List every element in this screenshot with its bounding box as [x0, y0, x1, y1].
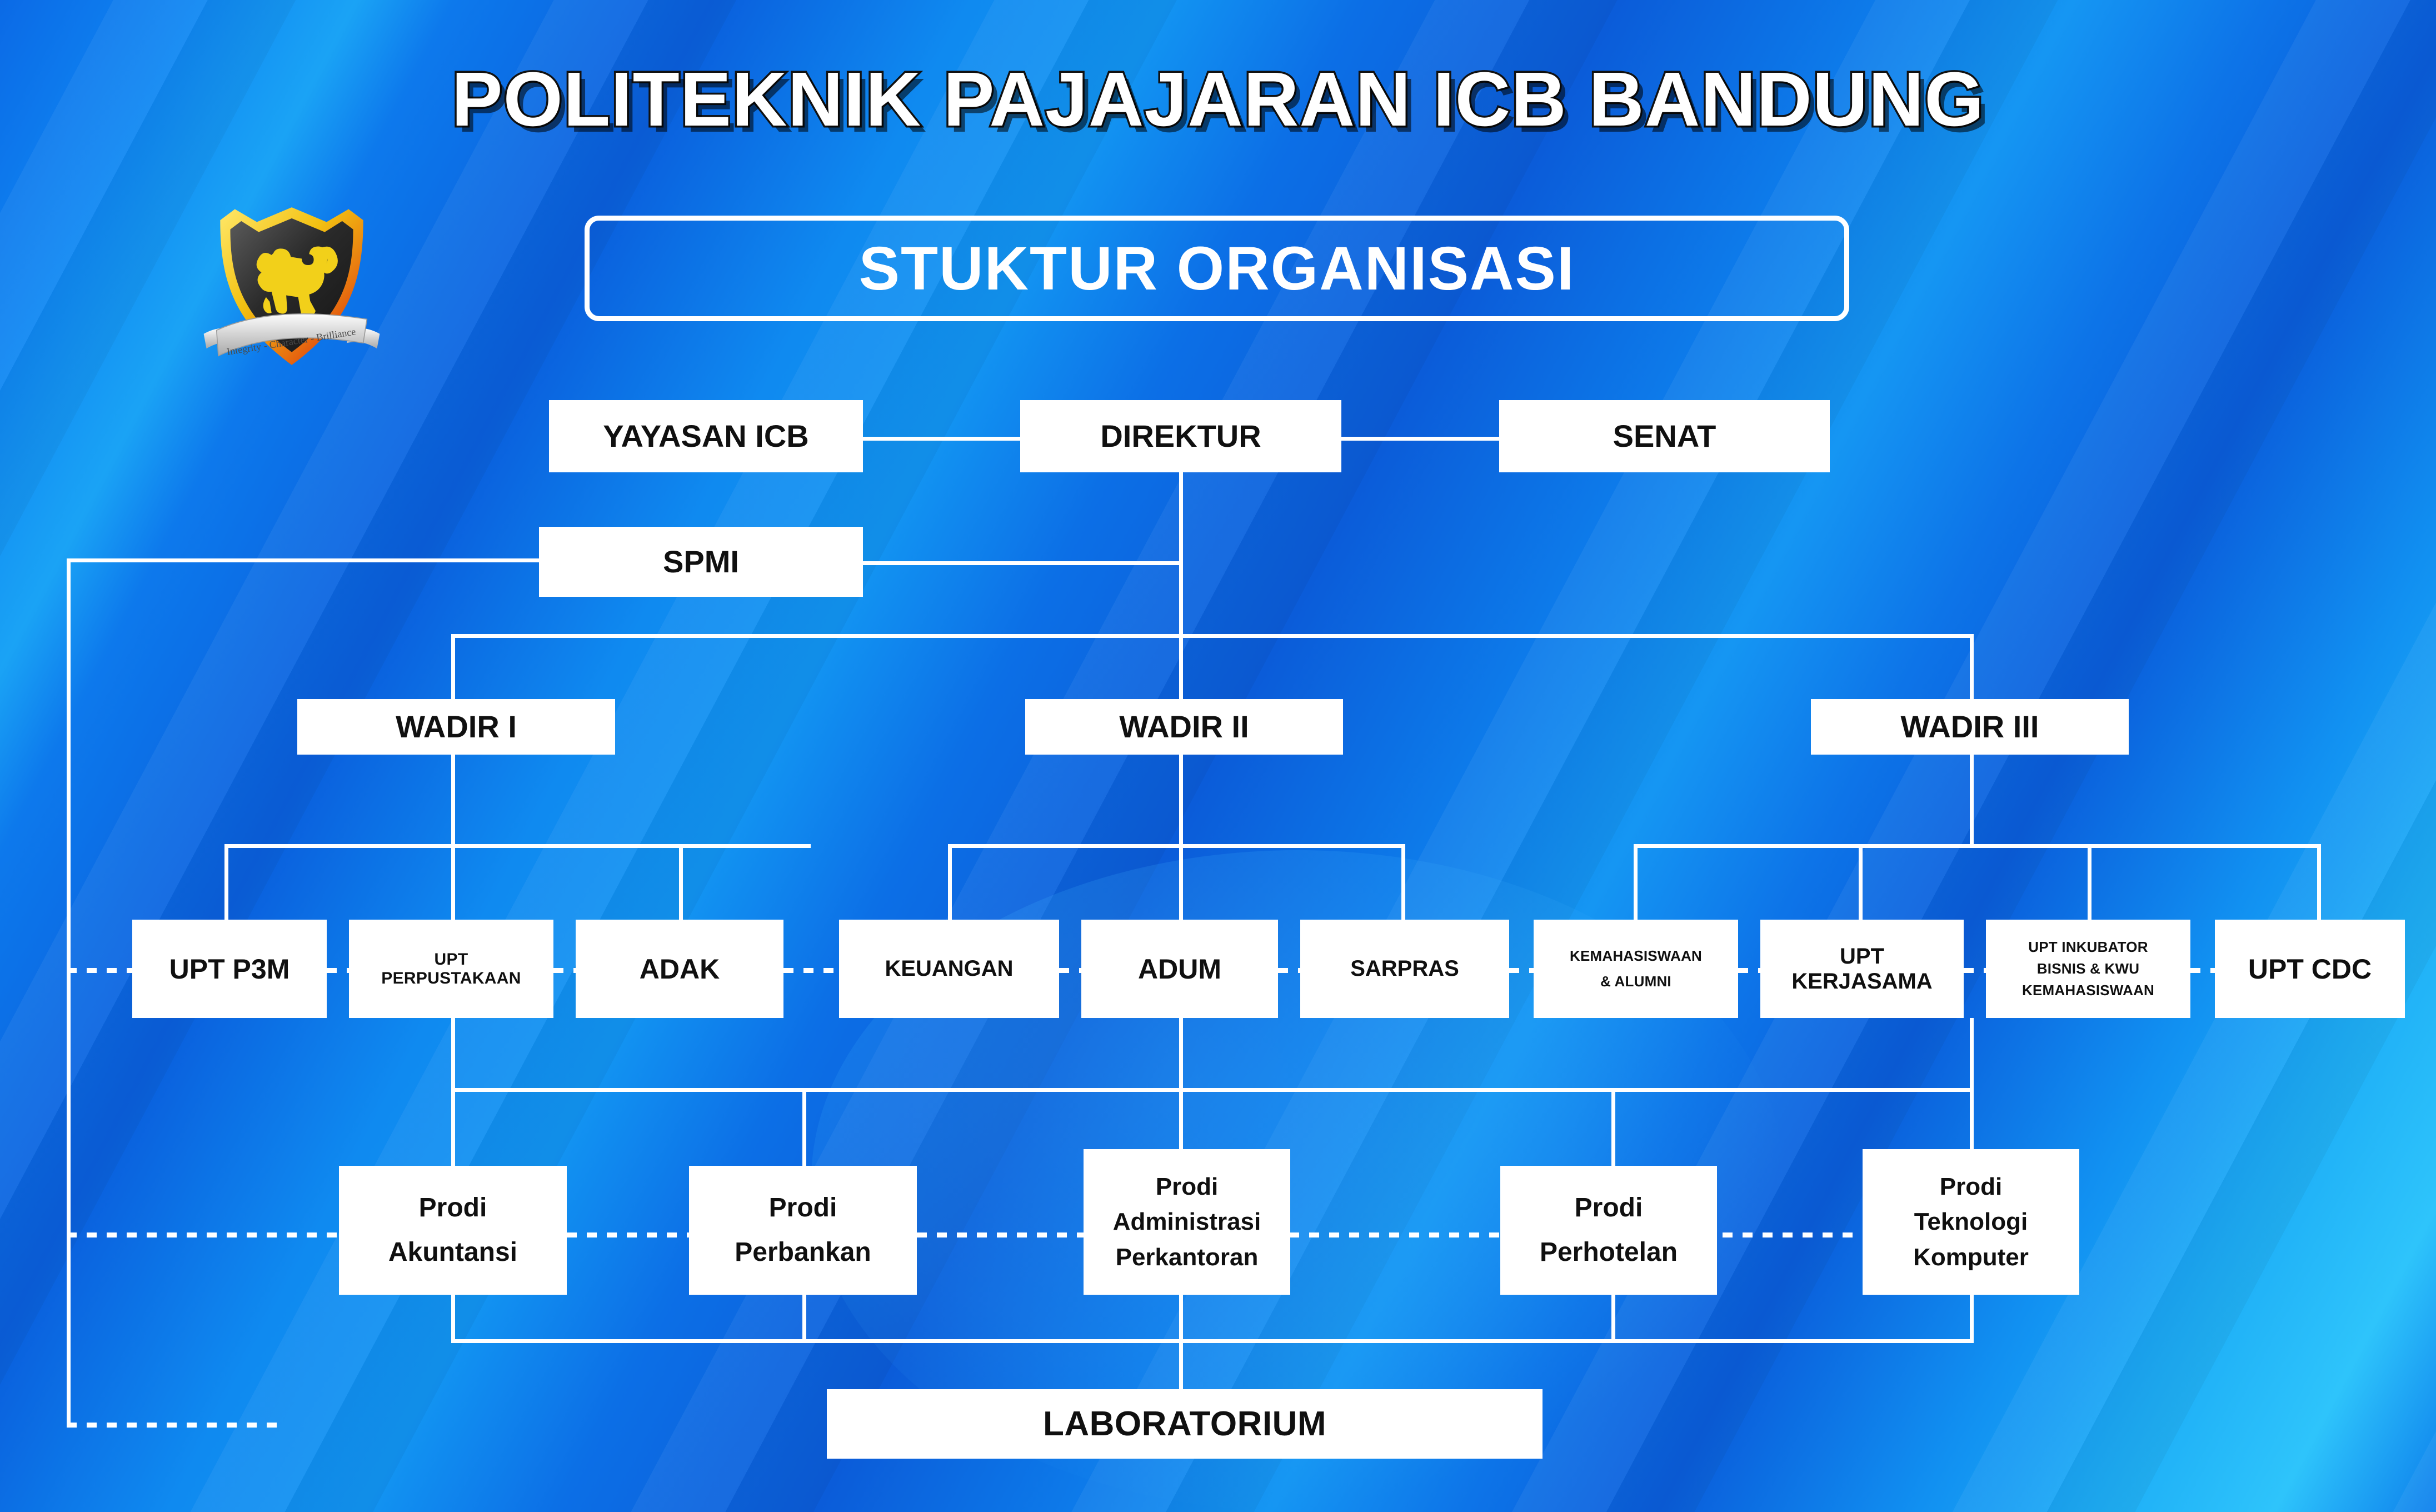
dotted-akuntansi-perbankan [567, 1232, 689, 1237]
node-prodi-perhotelan[interactable]: Prodi Perhotelan [1500, 1166, 1717, 1295]
node-label-line1: Prodi [1940, 1173, 2002, 1200]
icb-shield-lion-logo: Integrity - Character - Brilliance [200, 194, 383, 378]
node-label: ADAK [640, 954, 720, 985]
line-to-kerjasama [1859, 844, 1863, 920]
line-to-sarpras [1401, 844, 1405, 920]
node-label-line2: & ALUMNI [1600, 974, 1671, 990]
node-yayasan-icb[interactable]: YAYASAN ICB [549, 400, 863, 472]
line-direktur-trunk [1179, 470, 1183, 636]
line-to-upt-cdc [2317, 844, 2321, 920]
line-bus-to-wadir2 [1179, 634, 1183, 699]
line-to-kemahasiswaan [1634, 844, 1638, 920]
line-akuntansi-down [451, 1295, 455, 1341]
dotted-rail-to-laboratorium [67, 1423, 278, 1428]
node-label: LABORATORIUM [1043, 1405, 1326, 1443]
node-laboratorium[interactable]: LABORATORIUM [827, 1389, 1543, 1459]
line-to-keuangan [948, 844, 952, 920]
node-label-line1: Prodi [769, 1193, 837, 1223]
node-upt-kerjasama[interactable]: UPT KERJASAMA [1760, 920, 1964, 1018]
line-prodi-bus [451, 1088, 1974, 1092]
node-label: UPT P3M [169, 954, 290, 985]
dotted-perpus-adak [553, 968, 576, 973]
node-keuangan[interactable]: KEUANGAN [839, 920, 1059, 1018]
node-label: SENAT [1613, 419, 1716, 454]
page-title: POLITEKNIK PAJAJARAN ICB BANDUNG [0, 56, 2436, 144]
node-wadir-1[interactable]: WADIR I [297, 699, 615, 755]
line-wadir3-down [1970, 755, 1974, 846]
node-label: UPT CDC [2248, 954, 2372, 985]
line-bus-to-wadir3 [1970, 634, 1974, 699]
node-label-line3: Komputer [1913, 1244, 2029, 1271]
node-label-line2: BISNIS & KWU [2037, 961, 2139, 977]
node-direktur[interactable]: DIREKTUR [1020, 400, 1341, 472]
line-perbankan-down [802, 1295, 806, 1341]
org-chart-stage: POLITEKNIK PAJAJARAN ICB BANDUNG STUKTUR… [0, 0, 2436, 1512]
node-upt-cdc[interactable]: UPT CDC [2215, 920, 2405, 1018]
node-label-line2: PERPUSTAKAAN [381, 969, 521, 988]
line-to-adum [1179, 844, 1183, 920]
line-yayasan-direktur [863, 437, 1020, 441]
line-wadir1-down [451, 755, 455, 846]
dotted-keuangan-adum [1059, 968, 1081, 973]
line-bus-to-prodi-akuntansi [451, 1088, 455, 1166]
subtitle-banner: STUKTUR ORGANISASI [585, 216, 1849, 321]
node-label: SARPRAS [1350, 956, 1459, 981]
node-label: WADIR I [396, 710, 517, 745]
line-spmi-leftrail [67, 558, 539, 562]
line-teknologi-down [1970, 1295, 1974, 1341]
dotted-inkubator-cdc [2190, 968, 2215, 973]
node-label-line2: Perbankan [735, 1237, 871, 1268]
dotted-kemahasiswaan-kerjasama [1738, 968, 1760, 973]
line-to-inkubator [2088, 844, 2091, 920]
node-spmi[interactable]: SPMI [539, 527, 863, 597]
node-adum[interactable]: ADUM [1081, 920, 1278, 1018]
node-label: WADIR II [1119, 710, 1249, 745]
line-to-upt-p3m [224, 844, 228, 920]
node-kemahasiswaan-alumni[interactable]: KEMAHASISWAAN & ALUMNI [1534, 920, 1738, 1018]
node-label-line1: Prodi [1575, 1193, 1643, 1223]
node-label-line1: Prodi [419, 1193, 487, 1223]
dotted-perhotelan-teknologi [1723, 1232, 1861, 1237]
line-to-upt-perpus [451, 844, 455, 920]
line-wadir1-unit-bus [224, 844, 811, 848]
node-upt-p3m[interactable]: UPT P3M [132, 920, 327, 1018]
node-label-line1: UPT INKUBATOR [2028, 939, 2148, 955]
dotted-rail-to-prodi-akuntansi [67, 1232, 339, 1237]
line-perpus-down [451, 1018, 455, 1090]
dotted-p3m-perpus [327, 968, 349, 973]
line-wadir2-down [1179, 755, 1183, 846]
line-wadir-bus [451, 634, 1974, 638]
dotted-adm-perhotelan [1289, 1232, 1500, 1237]
node-prodi-administrasi-perkantoran[interactable]: Prodi Administrasi Perkantoran [1084, 1149, 1290, 1295]
node-upt-perpustakaan[interactable]: UPT PERPUSTAKAAN [349, 920, 553, 1018]
node-label: KEUANGAN [885, 956, 1013, 981]
node-prodi-teknologi-komputer[interactable]: Prodi Teknologi Komputer [1863, 1149, 2079, 1295]
node-label-line1: KEMAHASISWAAN [1570, 948, 1702, 964]
node-label: ADUM [1138, 954, 1221, 985]
node-prodi-perbankan[interactable]: Prodi Perbankan [689, 1166, 917, 1295]
dotted-kerjasama-inkubator [1964, 968, 1986, 973]
node-label-line1: Prodi [1156, 1173, 1218, 1200]
node-label: DIREKTUR [1100, 419, 1261, 454]
dotted-sarpras-kemahasiswaan [1509, 968, 1534, 973]
node-label-line2: Administrasi [1113, 1208, 1261, 1235]
node-upt-inkubator-bisnis[interactable]: UPT INKUBATOR BISNIS & KWU KEMAHASISWAAN [1986, 920, 2190, 1018]
line-bus-to-wadir1 [451, 634, 455, 699]
node-label-line2: Perhotelan [1540, 1237, 1678, 1268]
subtitle-text: STUKTUR ORGANISASI [859, 233, 1575, 304]
node-label: SPMI [663, 545, 739, 580]
line-prodi-to-lab-bus [451, 1339, 1974, 1343]
node-label: WADIR III [1901, 710, 2039, 745]
line-to-adak [679, 844, 683, 920]
line-adm-down [1179, 1295, 1183, 1341]
node-adak[interactable]: ADAK [576, 920, 783, 1018]
node-wadir-2[interactable]: WADIR II [1025, 699, 1343, 755]
dotted-perbankan-adm [917, 1232, 1084, 1237]
line-left-rail [67, 558, 71, 1425]
node-label-line2: Akuntansi [388, 1237, 517, 1268]
node-prodi-akuntansi[interactable]: Prodi Akuntansi [339, 1166, 567, 1295]
node-label-line3: Perkantoran [1116, 1244, 1259, 1271]
line-kerjasama-down [1970, 1018, 1974, 1090]
line-adum-down [1179, 1018, 1183, 1090]
node-label-line1: UPT [435, 950, 468, 969]
node-label-line1: UPT [1840, 944, 1884, 969]
node-label-line3: KEMAHASISWAAN [2022, 982, 2154, 999]
line-spmi-direktur [863, 561, 1181, 565]
line-perhotelan-down [1611, 1295, 1615, 1341]
node-sarpras[interactable]: SARPRAS [1300, 920, 1509, 1018]
line-direktur-senat [1341, 437, 1499, 441]
line-wadir2-unit-bus [948, 844, 1401, 848]
node-label: YAYASAN ICB [603, 419, 808, 454]
node-label-line2: KERJASAMA [1791, 969, 1932, 994]
dotted-adak-keuangan [783, 968, 839, 973]
node-label-line2: Teknologi [1914, 1208, 2028, 1235]
node-senat[interactable]: SENAT [1499, 400, 1830, 472]
line-bus-to-prodi-perhotelan [1611, 1088, 1615, 1166]
line-wadir3-unit-bus [1634, 844, 2317, 848]
line-bus-to-prodi-perbankan [802, 1088, 806, 1166]
dotted-adum-sarpras [1278, 968, 1300, 973]
node-wadir-3[interactable]: WADIR III [1811, 699, 2129, 755]
